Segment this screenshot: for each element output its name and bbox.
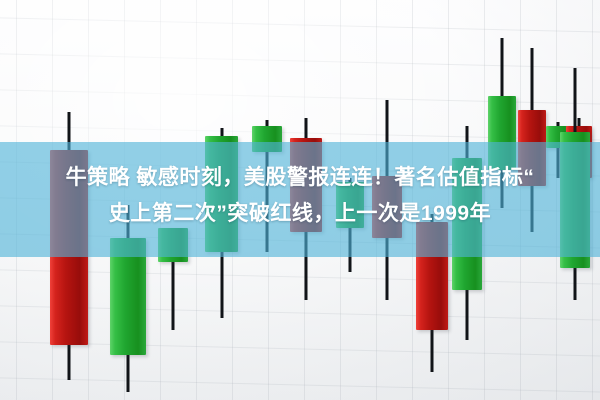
candlestick-body xyxy=(416,222,448,330)
headline-line-2: 史上第二次”突破红线，上一次是1999年 xyxy=(0,196,600,232)
candlestick-body xyxy=(488,96,516,170)
candlestick-body xyxy=(252,126,282,152)
chart-screenshot: 牛策略 敏感时刻，美股警报连连！著名估值指标“ 史上第二次”突破红线，上一次是1… xyxy=(0,0,600,400)
headline-text: 牛策略 敏感时刻，美股警报连连！著名估值指标“ 史上第二次”突破红线，上一次是1… xyxy=(0,160,600,232)
headline-line-1: 牛策略 敏感时刻，美股警报连连！著名估值指标“ xyxy=(0,160,600,196)
candlestick-body xyxy=(158,228,188,262)
candlestick-body xyxy=(110,238,146,355)
